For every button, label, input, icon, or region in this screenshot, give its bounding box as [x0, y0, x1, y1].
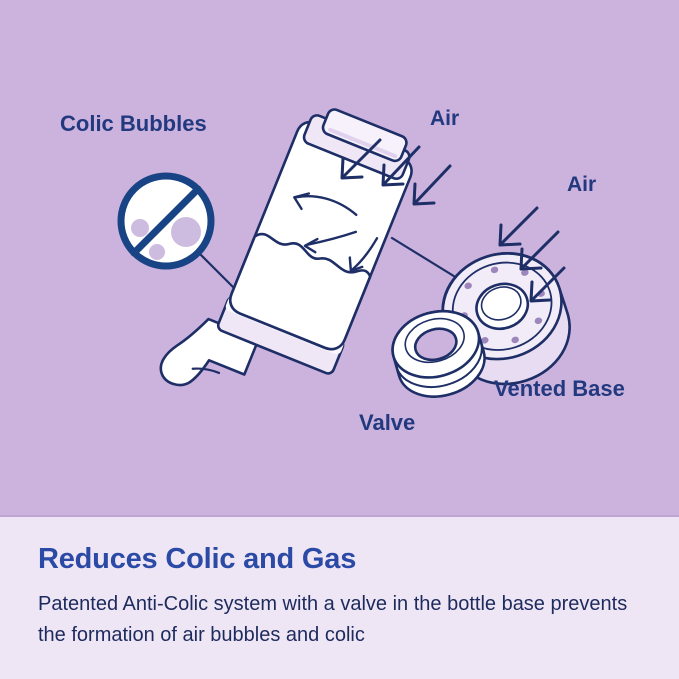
caption-body: Patented Anti-Colic system with a valve …	[38, 589, 648, 651]
caption-title: Reduces Colic and Gas	[38, 543, 356, 576]
baby-bottle-icon	[156, 85, 424, 438]
prohibition-circle-icon	[118, 174, 214, 270]
diagram-panel: Colic Bubbles Air Air Valve Vented Base	[0, 0, 679, 517]
label-valve: Valve	[359, 410, 415, 435]
product-feature-card: Colic Bubbles Air Air Valve Vented Base …	[0, 0, 679, 679]
label-air-right: Air	[567, 173, 596, 196]
label-air-top: Air	[430, 107, 459, 130]
anti-colic-diagram-illustration: Colic Bubbles Air Air Valve Vented Base	[0, 0, 679, 517]
label-vented-base: Vented Base	[494, 376, 625, 401]
label-colic-bubbles: Colic Bubbles	[60, 111, 207, 136]
